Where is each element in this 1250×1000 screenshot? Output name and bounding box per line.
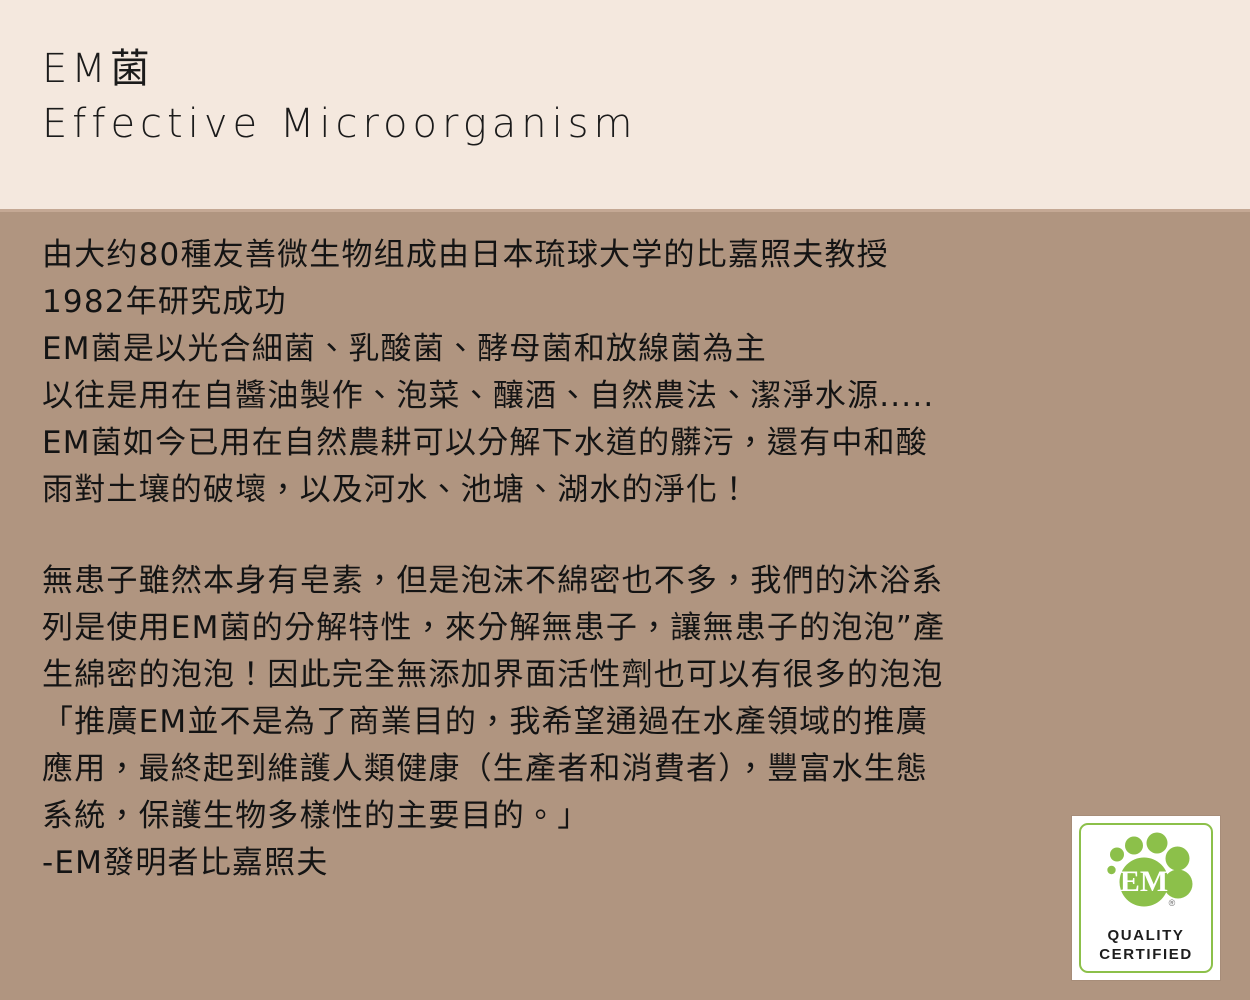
body-line: 由大约80種友善微生物组成由日本琉球大学的比嘉照夫教授	[42, 232, 1210, 279]
paragraph-product-and-quote: 無患子雖然本身有皂素，但是泡沫不綿密也不多，我們的沐浴系 列是使用EM菌的分解特…	[42, 558, 1210, 887]
body-line: 列是使用EM菌的分解特性，來分解無患子，讓無患子的泡泡”產	[42, 605, 1210, 652]
header-divider-rule	[0, 209, 1250, 212]
slide-canvas: EM菌 Effective Microorganism 由大约80種友善微生物组…	[0, 0, 1250, 1000]
body-text-area: 由大约80種友善微生物组成由日本琉球大学的比嘉照夫教授 1982年研究成功 EM…	[42, 232, 1210, 887]
badge-caption: QUALITY CERTIFIED	[1072, 926, 1220, 964]
body-line: 「推廣EM並不是為了商業目的，我希望通過在水產領域的推廣	[42, 699, 1210, 746]
badge-caption-line2: CERTIFIED	[1072, 945, 1220, 964]
title-block: EM菌 Effective Microorganism	[42, 44, 1142, 150]
svg-text:EM: EM	[1120, 865, 1168, 898]
em-quality-certified-badge: EM ® QUALITY CERTIFIED	[1072, 816, 1220, 980]
page-title-zh: EM菌	[42, 44, 1142, 95]
body-line: 系統，保護生物多樣性的主要目的。」	[42, 793, 1210, 840]
body-line: EM菌如今已用在自然農耕可以分解下水道的髒污，還有中和酸	[42, 420, 1210, 467]
page-title-en: Effective Microorganism	[42, 99, 1142, 150]
badge-caption-line1: QUALITY	[1072, 926, 1220, 945]
em-paw-logo-icon: EM ®	[1072, 822, 1220, 914]
header-band: EM菌 Effective Microorganism	[0, 0, 1250, 210]
body-line: 應用，最終起到維護人類健康（生產者和消費者），豐富水生態	[42, 746, 1210, 793]
body-line-attribution: -EM發明者比嘉照夫	[42, 840, 1210, 887]
body-line: 以往是用在自醬油製作、泡菜、釀酒、自然農法、潔淨水源.....	[42, 373, 1210, 420]
body-line: 1982年研究成功	[42, 279, 1210, 326]
body-line: 雨對土壤的破壞，以及河水、池塘、湖水的淨化！	[42, 467, 1210, 514]
body-line: EM菌是以光合細菌、乳酸菌、酵母菌和放線菌為主	[42, 326, 1210, 373]
body-line: 無患子雖然本身有皂素，但是泡沫不綿密也不多，我們的沐浴系	[42, 558, 1210, 605]
body-line: 生綿密的泡泡！因此完全無添加界面活性劑也可以有很多的泡泡	[42, 652, 1210, 699]
svg-text:®: ®	[1169, 898, 1176, 908]
paragraph-intro: 由大约80種友善微生物组成由日本琉球大学的比嘉照夫教授 1982年研究成功 EM…	[42, 232, 1210, 514]
